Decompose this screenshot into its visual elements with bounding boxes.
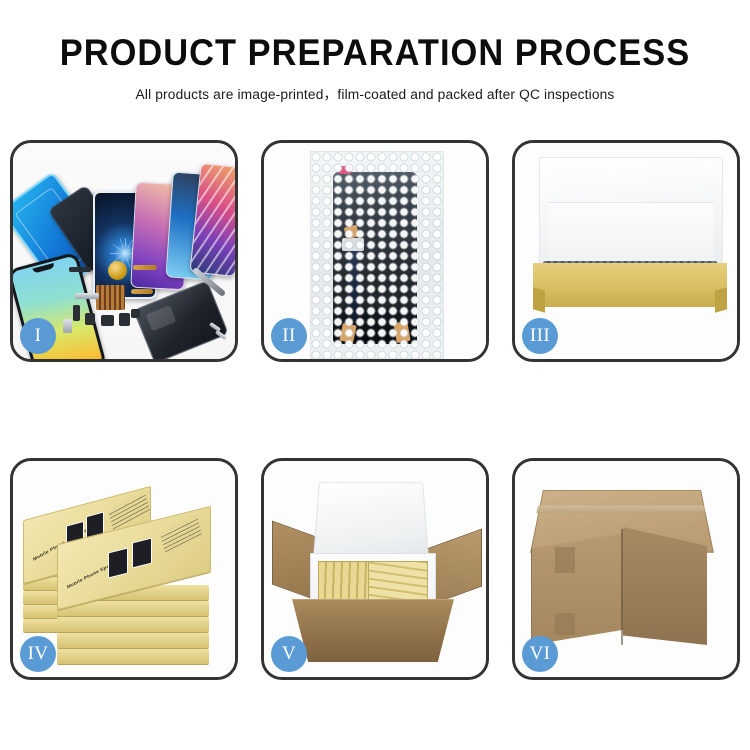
small-part [85,313,95,325]
small-part [119,313,130,326]
carton-sealing-tape [536,506,706,514]
step-badge-1: I [20,318,56,354]
stacked-box [57,617,209,632]
header: PRODUCT PREPARATION PROCESS All products… [0,0,750,104]
box-label-image [108,547,128,578]
box-corner-right [715,287,727,312]
stacked-box [57,633,209,648]
box-corner-left [533,287,545,312]
small-part [131,309,140,318]
foam-lid-open [313,482,429,562]
carton-tab [555,613,575,635]
metal-bracket-part [75,293,99,299]
carton-corner-seam [621,529,623,645]
small-part [101,315,114,326]
step-badge-5: V [271,636,307,672]
bubble-texture [311,152,443,358]
bubble-wrap-bag [310,151,444,359]
process-step-panel-4: Mobile Phone Spare Parts Mobile Phone Sp… [10,458,238,680]
small-part [73,305,80,321]
flex-cable-part [131,289,153,294]
yellow-inner-box [533,263,727,307]
process-step-panel-2: II [261,140,489,362]
stacked-box [57,649,209,664]
box-label-lines [160,516,202,553]
small-part [63,319,72,333]
step-badge-2: II [271,318,307,354]
product-preparation-infographic: PRODUCT PREPARATION PROCESS All products… [0,0,750,750]
carton-tab [555,547,575,573]
carton-front-wall [292,599,454,662]
gold-coil-part [108,261,127,280]
step-badge-6: VI [522,636,558,672]
step-badge-3: III [522,318,558,354]
box-label-image [132,538,152,569]
carton-left-face [531,533,626,645]
process-step-panel-1: I [10,140,238,362]
small-part [69,267,91,272]
step-badge-4: IV [20,636,56,672]
process-step-panel-5: V [261,458,489,680]
process-step-panel-6: VI [512,458,740,680]
chip-grid-part [96,285,125,310]
page-subtitle: All products are image-printed，film-coat… [11,84,739,104]
process-steps-grid: I II [10,140,740,680]
box-stack: Mobile Phone Spare Parts Mobile Phone Sp… [19,477,231,665]
process-step-panel-3: III [512,140,740,362]
page-title: PRODUCT PREPARATION PROCESS [26,34,724,71]
carton-right-face [623,527,707,645]
flex-cable-part [133,265,157,270]
